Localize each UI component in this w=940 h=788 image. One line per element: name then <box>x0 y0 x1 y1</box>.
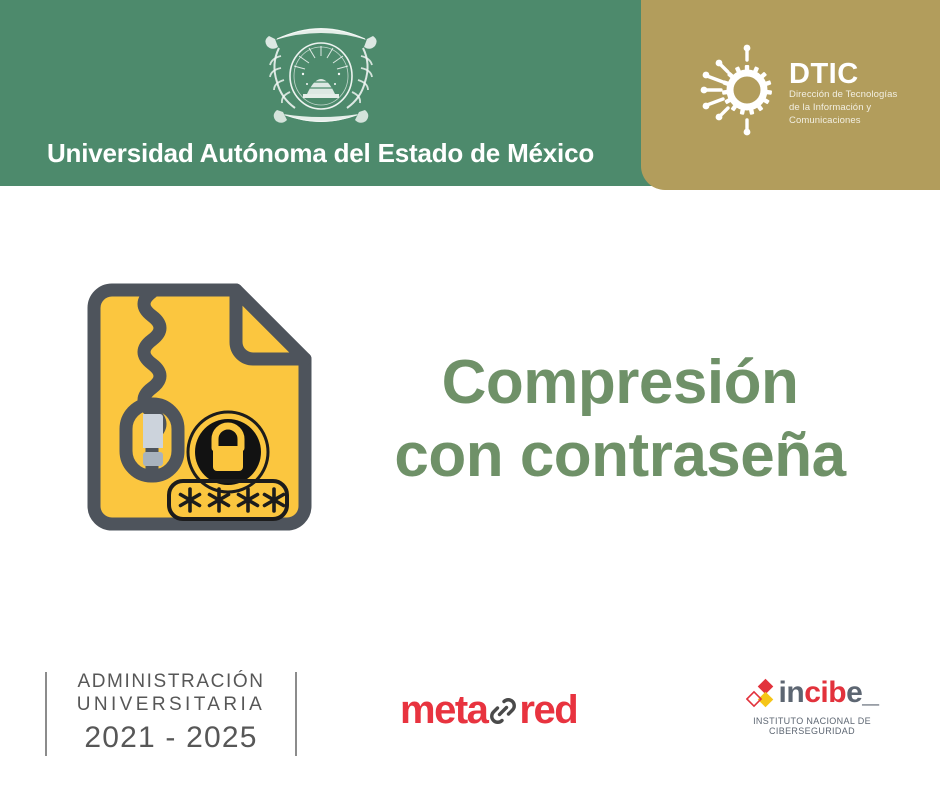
zip-password-file-icon <box>68 282 313 532</box>
uaem-seal-icon <box>257 14 385 134</box>
page-header: Universidad Autónoma del Estado de Méxic… <box>0 0 940 186</box>
university-brand-block: Universidad Autónoma del Estado de Méxic… <box>0 0 641 186</box>
dtic-title: DTIC <box>789 60 940 89</box>
page-title-line2: con contraseña <box>340 419 900 492</box>
page-title: Compresión con contraseña <box>340 346 900 492</box>
metared-word-right: red <box>519 688 577 733</box>
administration-line2: UNIVERSITARIA <box>77 694 265 716</box>
incibe-logo: incibe_ INSTITUTO NACIONAL DE CIBERSEGUR… <box>722 678 902 736</box>
incibe-word-part3: e_ <box>846 676 878 709</box>
main-content: Compresión con contraseña <box>0 186 940 644</box>
page-footer: ADMINISTRACIÓN UNIVERSITARIA 2021 - 2025… <box>0 644 940 788</box>
administration-line1: ADMINISTRACIÓN <box>77 671 265 693</box>
incibe-word-part2: cib <box>804 676 846 709</box>
university-name: Universidad Autónoma del Estado de Méxic… <box>0 138 641 169</box>
badge-divider-right <box>295 672 297 756</box>
incibe-diamonds-icon <box>746 678 776 708</box>
incibe-mark: incibe_ <box>722 678 902 708</box>
administration-text: ADMINISTRACIÓN UNIVERSITARIA 2021 - 2025 <box>67 671 275 757</box>
incibe-word-part1: in <box>779 676 805 709</box>
metared-word-left: meta <box>400 688 487 733</box>
page-title-line1: Compresión <box>340 346 900 419</box>
incibe-wordmark: incibe_ <box>779 678 879 708</box>
badge-divider-left <box>45 672 47 756</box>
dtic-lockup: DTIC Dirección de Tecnologías de la Info… <box>697 42 940 138</box>
administration-badge: ADMINISTRACIÓN UNIVERSITARIA 2021 - 2025 <box>45 664 297 764</box>
dtic-subtitle-line1: Dirección de Tecnologías <box>789 89 940 102</box>
dtic-subtitle-line2: de la Información y Comunicaciones <box>789 102 940 128</box>
dtic-text-block: DTIC Dirección de Tecnologías de la Info… <box>789 52 940 127</box>
incibe-subtitle: INSTITUTO NACIONAL DE CIBERSEGURIDAD <box>722 716 902 736</box>
chain-link-icon <box>488 694 518 728</box>
administration-years: 2021 - 2025 <box>77 718 265 757</box>
dtic-brand-panel: DTIC Dirección de Tecnologías de la Info… <box>641 0 940 190</box>
metared-logo: meta red <box>400 688 577 733</box>
dtic-gear-sun-icon <box>697 42 783 138</box>
